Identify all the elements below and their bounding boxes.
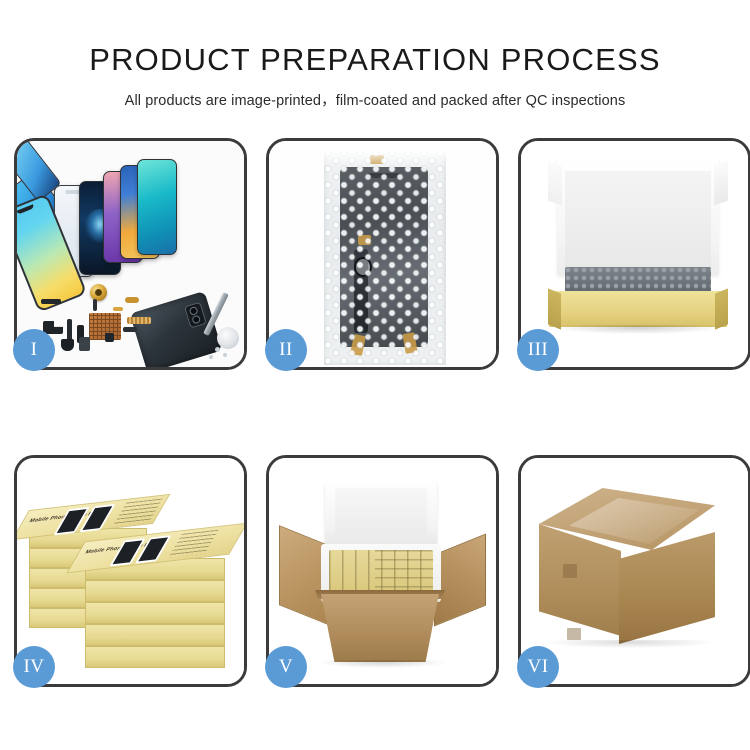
box-stack: Mobile Phone Spare Parts M (23, 486, 241, 672)
page-title: PRODUCT PREPARATION PROCESS (0, 42, 750, 78)
process-step-2: II (266, 138, 499, 370)
carton-flap-right (434, 533, 486, 626)
step-badge-5: V (265, 646, 307, 688)
spare-part (113, 307, 123, 311)
flex-cable-part (127, 317, 151, 324)
step-5-image (269, 458, 496, 684)
process-grid: I (0, 138, 750, 687)
bubble-texture (324, 149, 446, 365)
screw-part (209, 355, 213, 359)
screw-part (223, 353, 227, 357)
stacked-box (85, 602, 225, 624)
spare-part (41, 299, 61, 304)
sealed-carton-scene (521, 458, 748, 684)
screw-part (215, 347, 220, 352)
phone-parts-scene (17, 141, 244, 367)
poster-root: PRODUCT PREPARATION PROCESS All products… (0, 0, 750, 750)
process-step-5: V (266, 455, 499, 687)
spare-part (125, 297, 139, 303)
packed-yellow-boxes (329, 550, 433, 594)
carton-left-face (539, 524, 621, 636)
spare-part (123, 327, 137, 332)
step-badge-3: III (517, 329, 559, 371)
process-step-3: III (518, 138, 750, 370)
spare-part (93, 299, 97, 311)
phone-notch (17, 204, 34, 214)
carton-shadow (319, 660, 445, 668)
tool-handle (217, 327, 239, 349)
spare-part (79, 337, 90, 351)
process-row-top: I (0, 138, 750, 370)
process-row-bottom: Mobile Phone Spare Parts M (0, 455, 750, 687)
box-shadow (555, 325, 721, 334)
step-6-image (521, 458, 748, 684)
bubble-wrap-bag (324, 149, 446, 365)
carton-right-face (619, 532, 715, 644)
carton-handle-tab (563, 564, 577, 578)
page-subtitle: All products are image-printed，film-coat… (0, 89, 750, 110)
bubble-wrap-scene (269, 141, 496, 367)
inner-box-scene (521, 141, 748, 367)
camera-module-icon (184, 302, 207, 329)
box-inner-wall (565, 171, 711, 271)
step-badge-6: VI (517, 646, 559, 688)
box-spec-lines (168, 530, 218, 558)
process-step-4: Mobile Phone Spare Parts M (14, 455, 247, 687)
gold-coil-part (90, 284, 107, 301)
step-1-image (17, 141, 244, 367)
carton-body (313, 594, 447, 662)
header: PRODUCT PREPARATION PROCESS All products… (0, 0, 750, 110)
stacked-box (85, 624, 225, 646)
stacked-boxes-scene: Mobile Phone Spare Parts M (17, 458, 244, 684)
yellow-box-front (549, 291, 727, 327)
step-badge-1: I (13, 329, 55, 371)
step-4-image: Mobile Phone Spare Parts M (17, 458, 244, 684)
process-step-1: I (14, 138, 247, 370)
stacked-box (85, 646, 225, 668)
process-step-6: VI (518, 455, 750, 687)
step-3-image (521, 141, 748, 367)
carton-shadow (547, 640, 713, 648)
foam-lid (325, 480, 437, 548)
box-spec-lines (112, 499, 162, 527)
stacked-box (85, 580, 225, 602)
step-badge-2: II (265, 329, 307, 371)
carton-packing-scene (269, 458, 496, 684)
carton-handle-tab (567, 628, 581, 640)
phone-screen-teal (137, 159, 177, 255)
bag-fold (324, 149, 446, 167)
spare-part (61, 339, 74, 351)
spare-part (105, 333, 114, 342)
step-badge-4: IV (13, 646, 55, 688)
step-2-image (269, 141, 496, 367)
